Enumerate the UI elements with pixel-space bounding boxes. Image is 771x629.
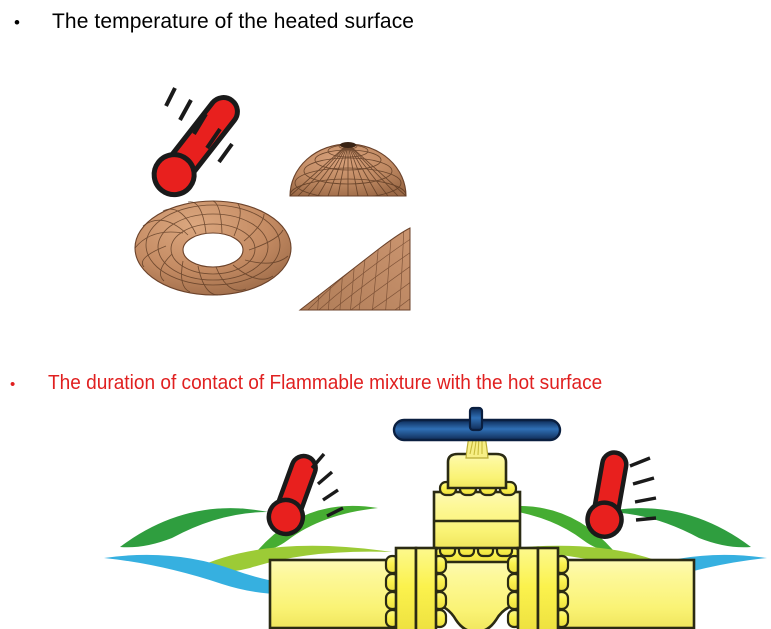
bullet-item-temperature: • The temperature of the heated surface — [14, 10, 414, 34]
bullet-marker: • — [10, 377, 48, 392]
valve-handwheel-bar[interactable] — [394, 408, 560, 440]
pipeline-valve-illustration — [100, 408, 771, 629]
bullet-label: The duration of contact of Flammable mix… — [48, 371, 602, 395]
bullet-item-duration: • The duration of contact of Flammable m… — [10, 371, 644, 395]
curved-surface-patch-mesh — [300, 224, 426, 334]
hemisphere-dome-mesh — [290, 142, 406, 211]
pipe-flange-right — [508, 548, 568, 629]
heated-surfaces-illustration — [118, 78, 418, 330]
slide-canvas: • The temperature of the heated surface — [0, 0, 771, 629]
pipe-left — [270, 560, 402, 628]
pipe-flange-left — [386, 548, 446, 629]
torus-mesh — [135, 201, 291, 295]
thermometer-icon-right — [585, 450, 656, 540]
thermometer-icon — [146, 88, 248, 203]
bullet-label: The temperature of the heated surface — [52, 10, 414, 34]
valve-bonnet — [434, 454, 520, 562]
pipe-right — [552, 560, 694, 628]
bullet-marker: • — [14, 14, 52, 31]
